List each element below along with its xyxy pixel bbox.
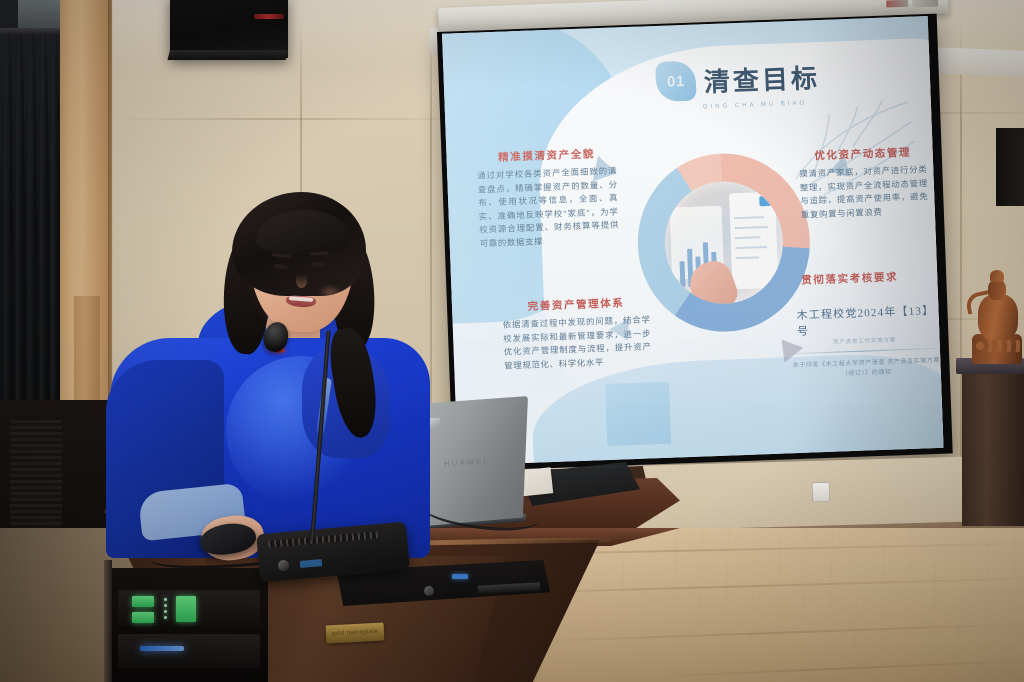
- dashboard-photo: [663, 179, 785, 305]
- rack-mount-rail: [104, 560, 112, 682]
- photo-scene: 01 清查目标 QING CHA MU BIAO: [0, 0, 1024, 682]
- roller-end-cap: [912, 0, 938, 8]
- wall-speaker-left-bevel: [168, 50, 288, 60]
- presenter: [106, 188, 436, 558]
- rack-lcd-display: [132, 612, 154, 623]
- wall-outlet: [812, 482, 831, 502]
- copper-vessel-decor: [966, 266, 1022, 364]
- donut-center-photo: [663, 179, 785, 305]
- slide-block-bottom-left: 完善资产管理体系 依据清查过程中发现的问题，结合学校发展实际和最新管理要求，进一…: [502, 294, 653, 373]
- slide-block-top-right: 优化资产动态管理 摸清资产家底，对资产进行分类整理，实现资产全流程动态管理与追踪…: [798, 144, 929, 222]
- amplifier-knob: [424, 586, 434, 596]
- slide-title: 清查目标: [703, 57, 820, 98]
- wall-panel-line: [112, 118, 442, 120]
- vessel-lid: [990, 270, 1004, 282]
- rack-status-led: [164, 616, 167, 619]
- rack-lcd-display: [132, 596, 154, 607]
- nose: [296, 274, 307, 288]
- rack-lcd-display: [176, 596, 196, 622]
- donut-chart-graphic: [635, 151, 813, 335]
- podium-nameplate: gold nameplate: [326, 622, 385, 643]
- slide-accent-tile: [605, 382, 671, 446]
- slide-block-top-left: 精准摸清资产全貌 通过对学校各类资产全面细致的清查盘点，精确掌握资产的数量、分布…: [476, 145, 620, 251]
- rack-unit-amplifier: [118, 634, 260, 668]
- chart-bar: [680, 261, 686, 287]
- tablet-panel: [729, 192, 778, 290]
- podium-nameplate-text: gold nameplate: [326, 622, 385, 643]
- rack-status-led: [164, 610, 167, 613]
- tablet-accent: [759, 196, 771, 206]
- vessel-neck: [988, 280, 1006, 300]
- slide-number-badge: 01: [655, 61, 696, 102]
- block-body: 摸清资产家底，对资产进行分类整理，实现资产全流程动态管理与追踪，提高资产使用率，…: [799, 163, 929, 222]
- cheek: [318, 284, 342, 300]
- slide-title-row: 01 清查目标: [655, 56, 820, 102]
- block-body: 通过对学校各类资产全面细致的清查盘点，精确掌握资产的数量、分布、使用状况等信息，…: [477, 164, 620, 251]
- amplifier-led: [452, 574, 468, 579]
- rack-status-led: [164, 598, 167, 601]
- rack-blue-led-strip: [140, 646, 184, 651]
- wall-speaker-accent-stripe: [254, 14, 284, 19]
- wall-speaker-right: [996, 128, 1024, 206]
- rack-status-led: [164, 604, 167, 607]
- block-body: 依据清查过程中发现的问题，结合学校发展实际和最新管理要求，进一步优化资产管理制度…: [503, 313, 653, 373]
- roller-brand-mark: [886, 0, 908, 7]
- slide-document-number: 木工程校党2024年【13】号: [796, 302, 943, 339]
- display-pedestal: [962, 366, 1024, 526]
- left-vent-grille: [10, 420, 62, 540]
- vessel-base-texture: [974, 340, 1020, 352]
